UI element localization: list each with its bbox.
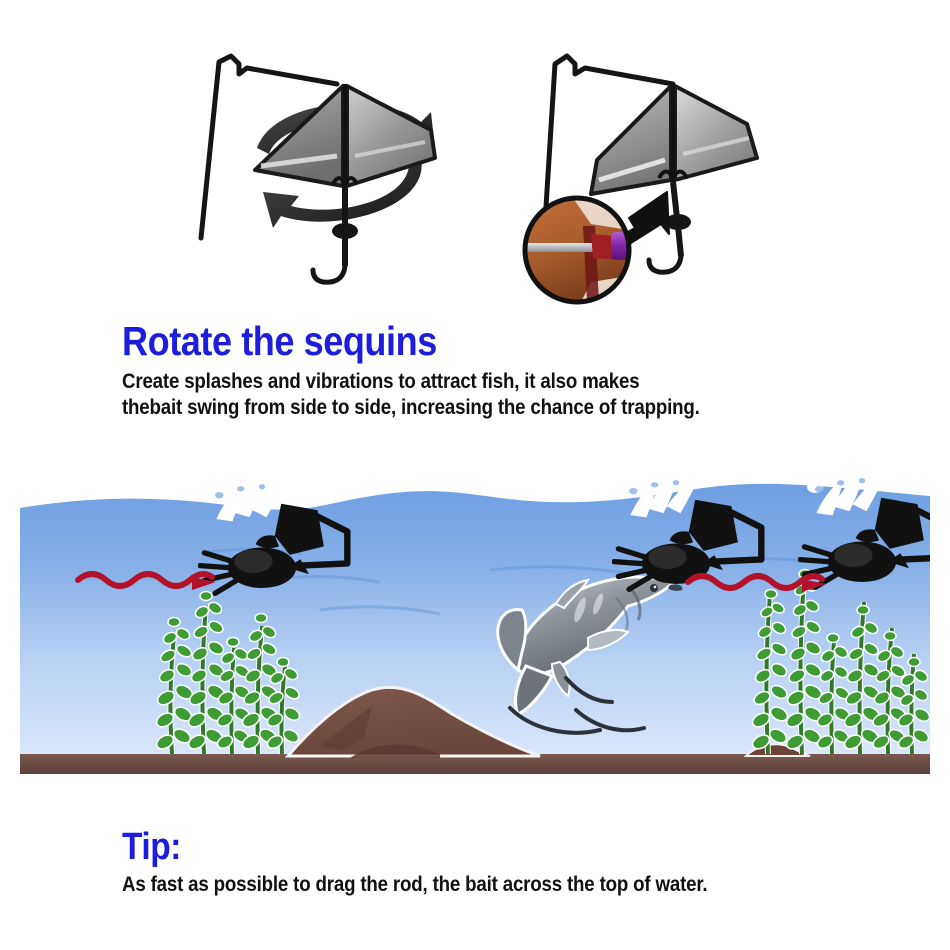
top-illustration-band [0,0,950,310]
section-heading-tip: Tip: [122,826,181,869]
photo-inset-circle [525,198,631,302]
lure-rotating-diagram [185,38,475,303]
tip-line-1: As fast as possible to drag the rod, the… [122,872,707,897]
rotate-description-line-1: Create splashes and vibrations to attrac… [122,369,639,394]
lure-detail-diagram [495,38,795,308]
hook-shank [313,188,358,282]
infographic-page: Rotate the sequins Create splashes and v… [0,0,950,950]
section-heading-rotate: Rotate the sequins [122,318,437,365]
underwater-fishing-scene [20,462,930,802]
spinner-blade [591,84,757,194]
rotate-description-line-2: thebait swing from side to side, increas… [122,395,700,420]
